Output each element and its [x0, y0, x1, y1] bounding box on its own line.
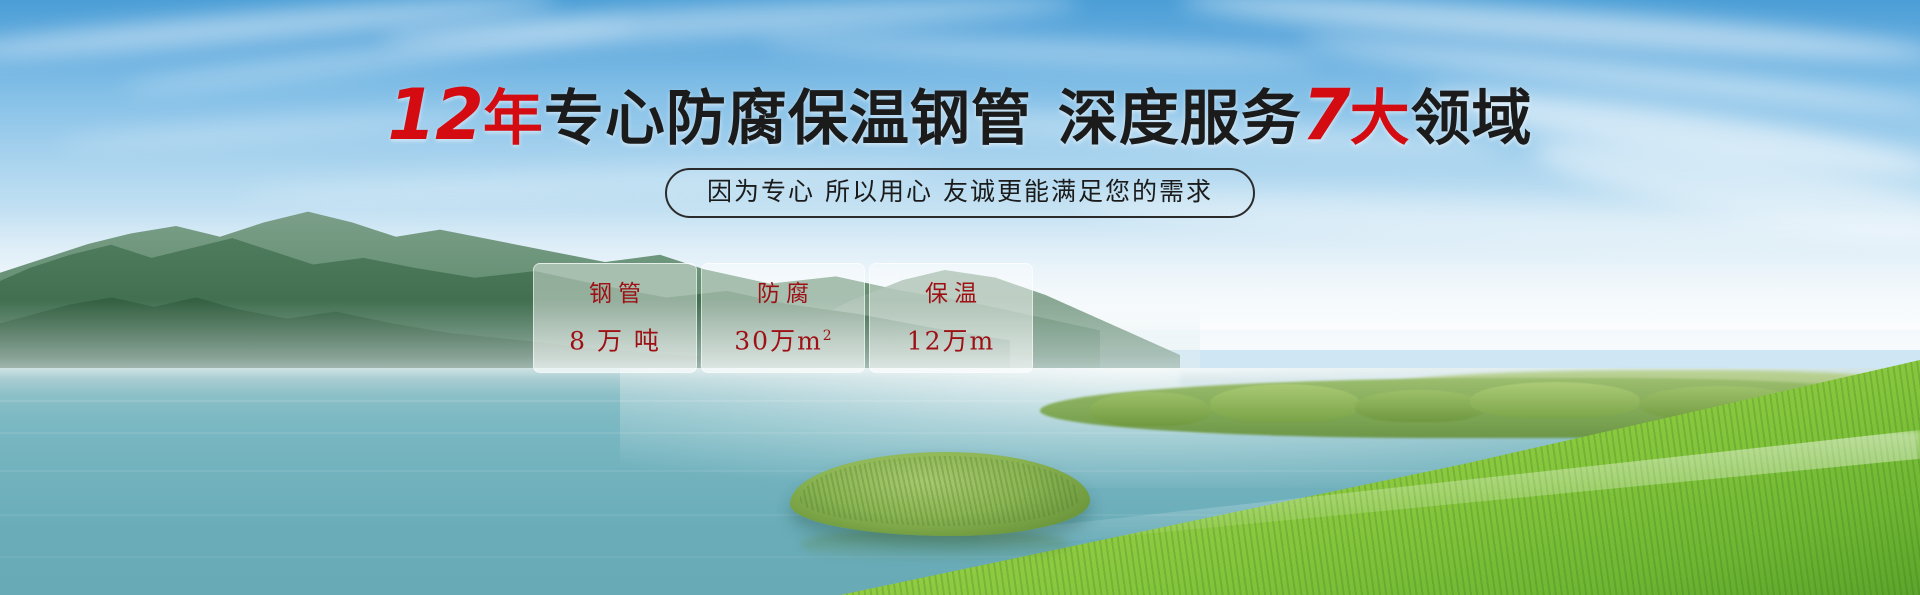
headline-years-number: 12	[387, 74, 482, 156]
subtitle-pill: 因为专心 所以用心 友诚更能满足您的需求	[665, 168, 1255, 218]
stat-card-value: 30万m2	[734, 323, 831, 354]
headline-fields-number: 7	[1302, 74, 1350, 156]
headline-second-text: 深度服务	[1058, 84, 1302, 154]
reed-clump	[1355, 390, 1485, 422]
headline-tail-text: 领域	[1411, 84, 1533, 154]
stat-value-text: 12万m	[907, 326, 996, 355]
hero-banner: 12年专心防腐保温钢管深度服务7大领域 因为专心 所以用心 友诚更能满足您的需求…	[0, 0, 1920, 595]
reed-clump	[1210, 384, 1360, 422]
reed-clump	[1090, 392, 1210, 426]
stat-value-text: 8 万 吨	[569, 326, 661, 355]
stat-card-title: 钢管	[583, 282, 647, 307]
reed-clump	[1470, 382, 1640, 418]
stat-card-anticorrosion[interactable]: 防腐 30万m2	[701, 263, 865, 373]
subtitle-container: 因为专心 所以用心 友诚更能满足您的需求	[0, 168, 1920, 218]
page-title: 12年专心防腐保温钢管深度服务7大领域	[0, 84, 1920, 150]
stat-card-list: 钢管 8 万 吨 防腐 30万m2 保温 12万m	[533, 263, 1033, 373]
stat-card-value: 12万m	[907, 323, 996, 354]
stat-card-steel-pipe[interactable]: 钢管 8 万 吨	[533, 263, 697, 373]
headline-main-text: 专心防腐保温钢管	[544, 84, 1032, 154]
stat-card-insulation[interactable]: 保温 12万m	[869, 263, 1033, 373]
stat-card-value: 8 万 吨	[569, 323, 661, 354]
stat-value-text: 30万m	[734, 326, 823, 355]
headline-fields-suffix: 大	[1350, 84, 1411, 154]
stat-card-title: 防腐	[751, 282, 815, 307]
headline-years-suffix: 年	[483, 84, 544, 154]
stat-value-superscript: 2	[823, 328, 832, 344]
stat-card-title: 保温	[919, 282, 983, 307]
